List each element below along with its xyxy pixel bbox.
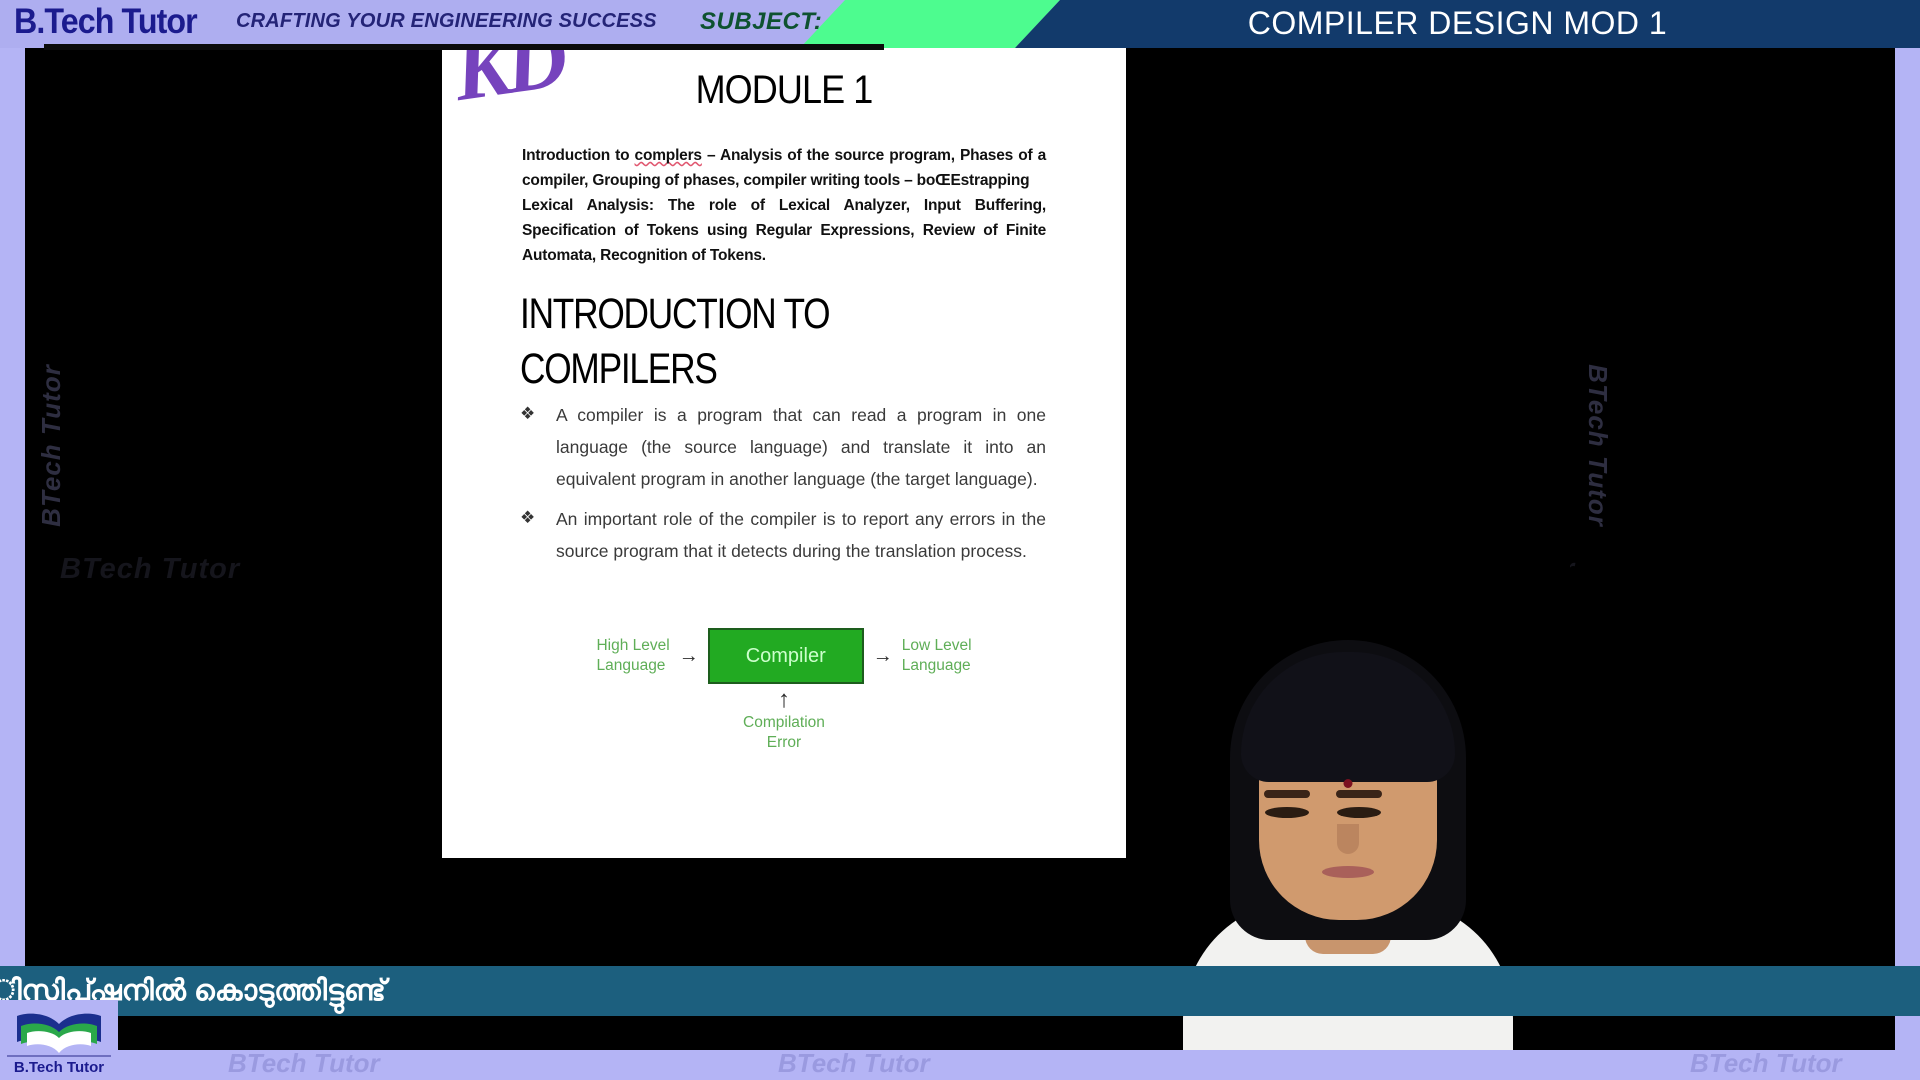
diagram-error-branch: ↑ Compilation Error — [743, 690, 825, 753]
footer-watermark: BTech Tutor — [228, 1048, 380, 1079]
diagram-error-label: Compilation Error — [743, 713, 825, 753]
presenter-bindi — [1344, 779, 1353, 788]
misspelled-word: complers — [635, 147, 702, 164]
presenter-brow-right — [1336, 790, 1382, 798]
presenter-eye-right — [1337, 807, 1381, 818]
diamond-bullet-icon: ❖ — [520, 503, 556, 567]
compiler-diagram: High Level Language → Compiler → Low Lev… — [442, 628, 1126, 684]
list-item-text: An important role of the compiler is to … — [556, 503, 1046, 567]
presenter-webcam — [1126, 48, 1570, 1050]
list-item-text: A compiler is a program that can read a … — [556, 399, 1046, 495]
top-header-bar: B.Tech Tutor CRAFTING YOUR ENGINEERING S… — [0, 0, 1920, 48]
brand-logo-text: B.Tech Tutor — [14, 2, 197, 42]
module-title: MODULE 1 — [476, 68, 1092, 113]
lower-third-banner: ിസ്ക്രിപ്ഷനിൽ കൊടുത്തിട്ടുണ്ട് — [0, 966, 1920, 1016]
watermark-left: BTech Tutor — [60, 553, 240, 586]
arrow-right-icon: → — [873, 646, 893, 666]
presenter-lips — [1322, 866, 1374, 878]
logo-divider — [7, 1055, 111, 1057]
diamond-bullet-icon: ❖ — [520, 399, 556, 495]
syllabus-line-2: Lexical Analysis: The role of Lexical An… — [522, 193, 1046, 268]
diagram-input-label: High Level Language — [596, 636, 669, 676]
diagram-output-label: Low Level Language — [902, 636, 972, 676]
presenter-eye-left — [1265, 807, 1309, 818]
presenter-nose — [1337, 824, 1359, 854]
syllabus-text-a: Introduction to — [522, 147, 635, 164]
watermark-vertical-left: BTech Tutor — [36, 364, 67, 527]
footer-watermark: BTech Tutor — [778, 1048, 930, 1079]
bullet-list: ❖ A compiler is a program that can read … — [520, 399, 1046, 567]
footer-watermark: BTech Tutor — [1690, 1048, 1842, 1079]
list-item: ❖ An important role of the compiler is t… — [520, 503, 1046, 567]
subject-label: SUBJECT: — [700, 8, 822, 36]
brand-tagline: CRAFTING YOUR ENGINEERING SUCCESS — [236, 10, 657, 33]
screen-root: BTech Tutor BTech Tutor BTech Tutor BTec… — [0, 0, 1920, 1080]
presenter-brow-left — [1264, 790, 1310, 798]
list-item: ❖ A compiler is a program that can read … — [520, 399, 1046, 495]
arrow-up-icon: ↑ — [743, 690, 825, 710]
watermark-vertical-right: BTech Tutor — [1582, 364, 1613, 527]
corner-logo: B.Tech Tutor — [0, 1000, 118, 1080]
compiler-box: Compiler — [708, 628, 864, 684]
header-underline-rule — [44, 44, 884, 50]
diagram-inner: High Level Language → Compiler → Low Lev… — [596, 628, 971, 684]
slide-page: KD MODULE 1 Introduction to complers – A… — [442, 48, 1126, 858]
syllabus-block: Introduction to complers – Analysis of t… — [522, 143, 1046, 269]
syllabus-line-1: Introduction to complers – Analysis of t… — [522, 143, 1046, 193]
subject-title: COMPILER DESIGN MOD 1 — [1005, 5, 1910, 42]
logo-caption: B.Tech Tutor — [14, 1059, 104, 1076]
arrow-right-icon: → — [679, 646, 699, 666]
open-book-icon — [11, 1010, 107, 1054]
section-heading: INTRODUCTION TO COMPILERS — [520, 287, 1017, 397]
